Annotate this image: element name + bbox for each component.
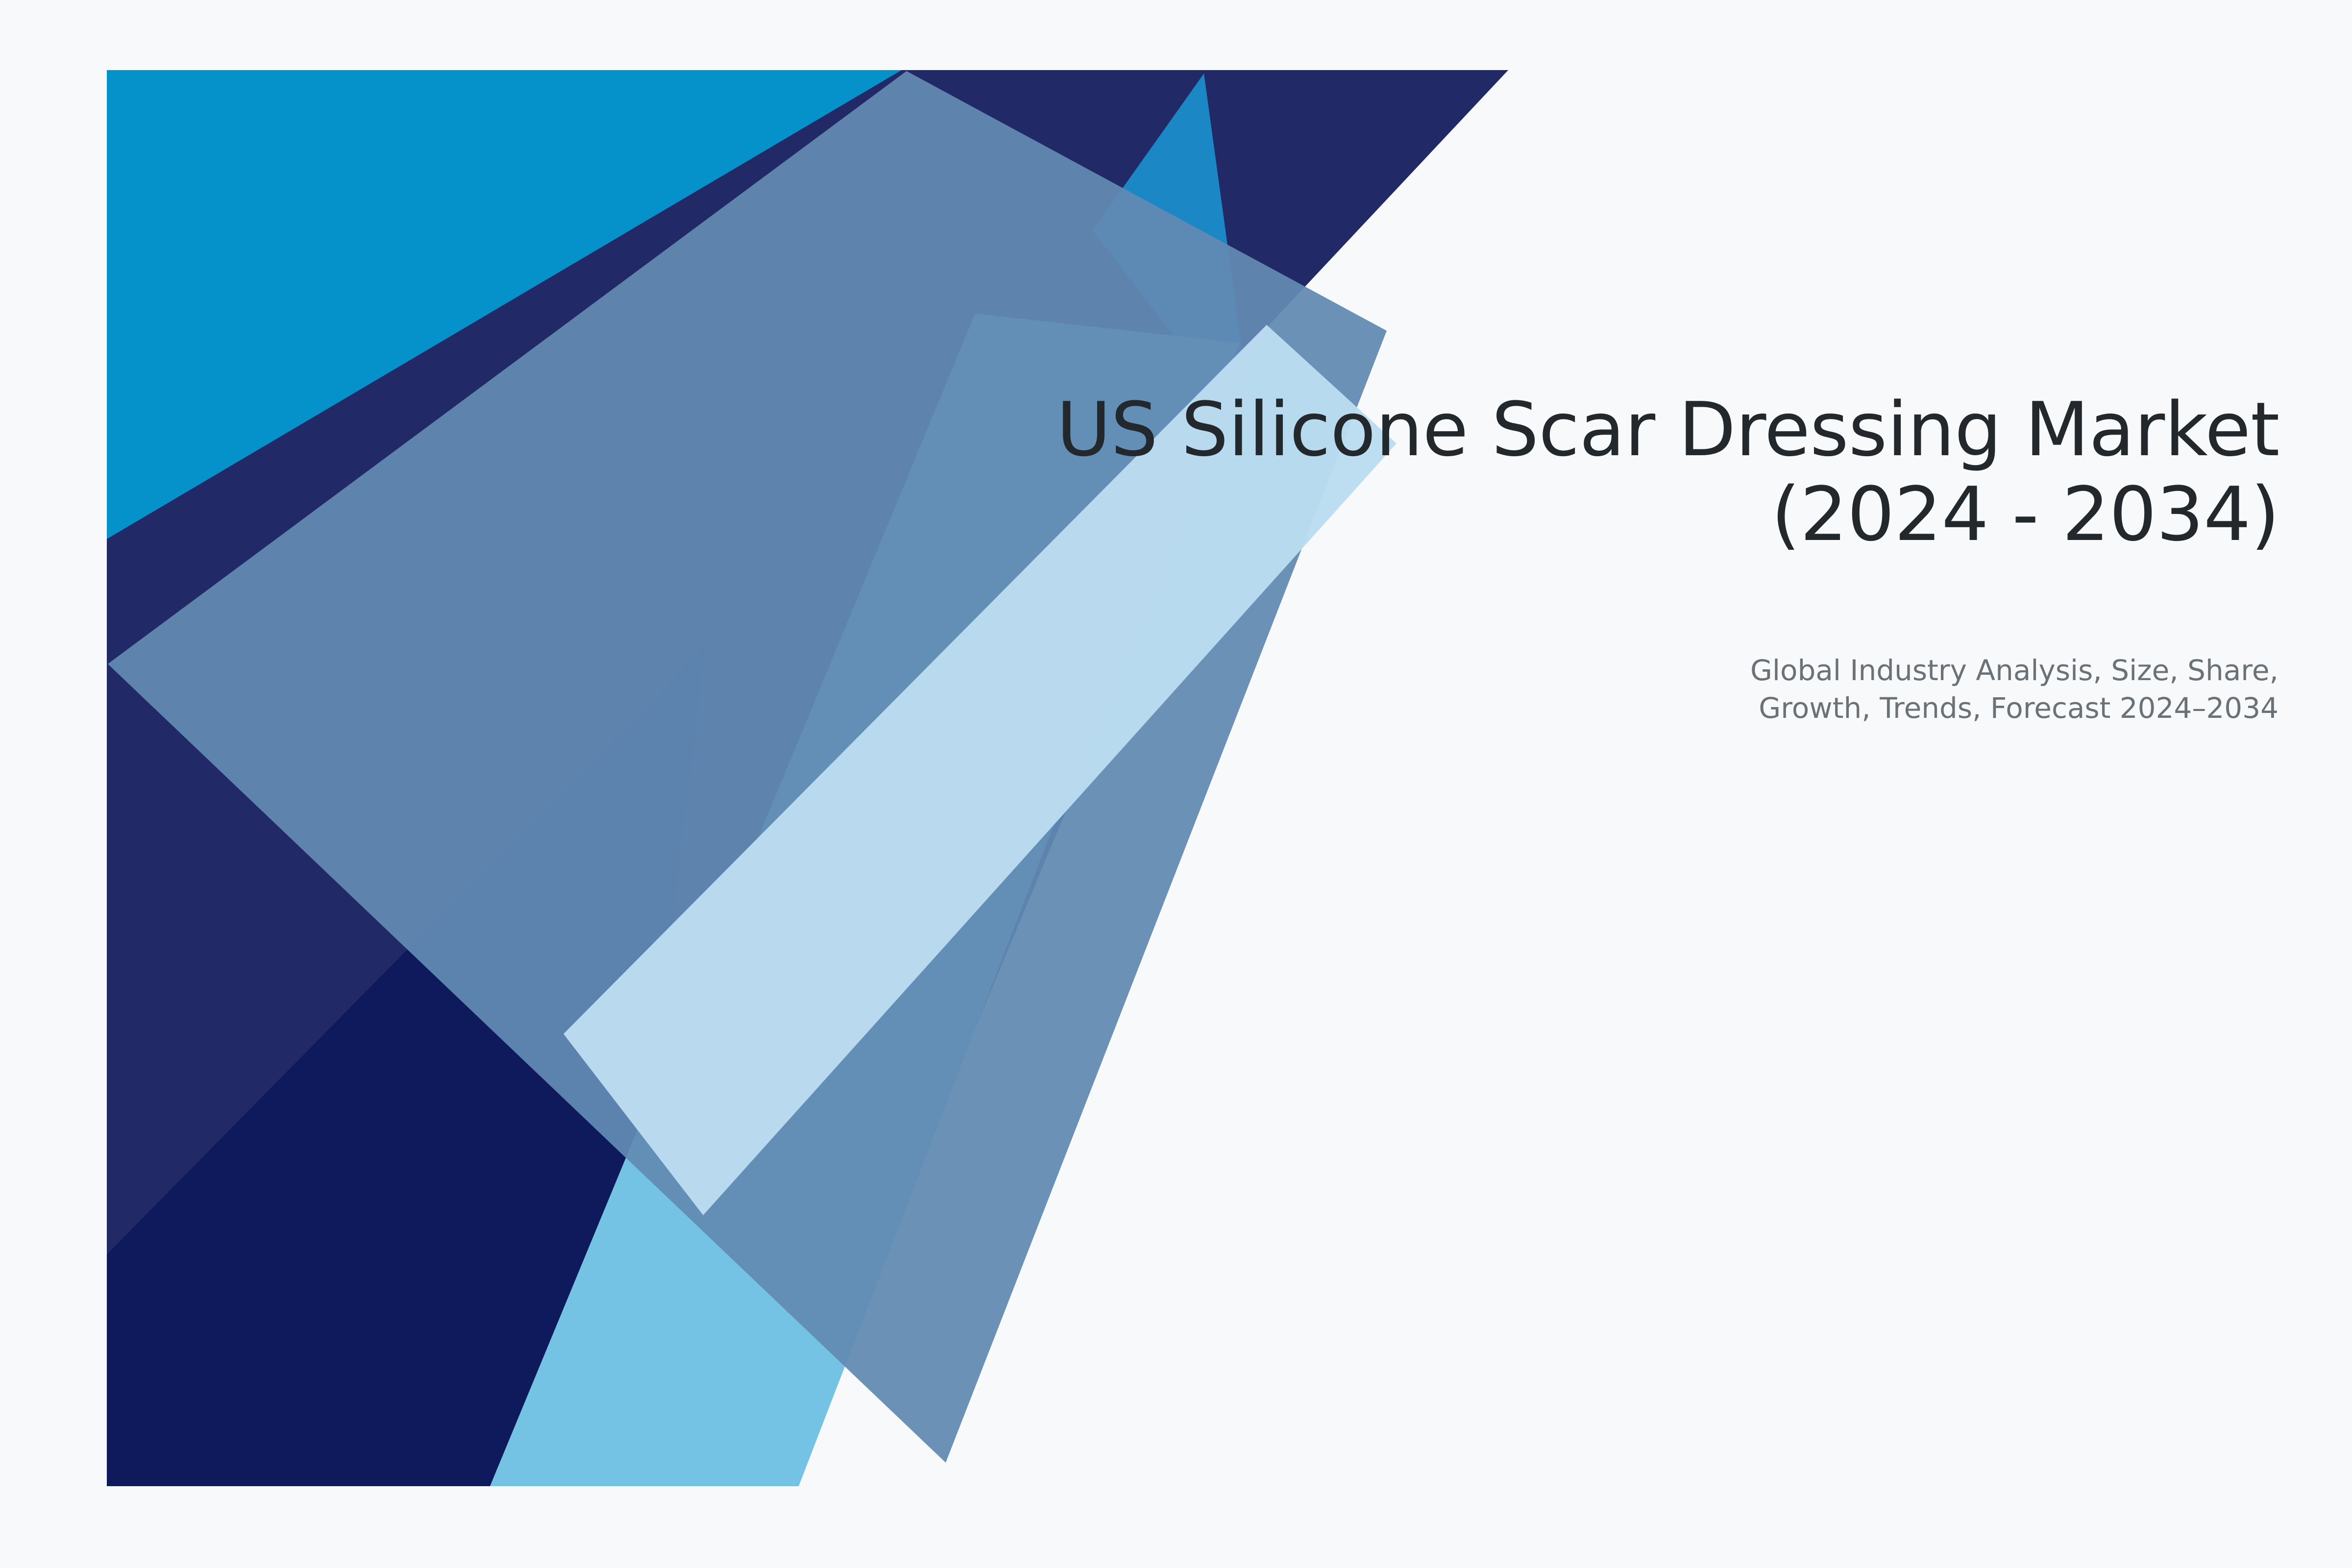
title-line-2-wrapper: (2024 - 2034) <box>1771 472 2279 557</box>
page-subtitle: Global Industry Analysis, Size, Share, G… <box>1514 652 2278 727</box>
page-title: US Silicone Scar Dressing Market (2024 -… <box>927 387 2279 557</box>
title-line-2: (2024 - 2034) <box>1771 471 2279 558</box>
subtitle-line-2: Growth, Trends, Forecast 2024–2034 <box>1514 689 2278 727</box>
cover-artwork <box>0 0 2352 1568</box>
title-line-1: US Silicone Scar Dressing Market <box>927 387 2279 472</box>
report-cover-page: US Silicone Scar Dressing Market (2024 -… <box>0 0 2352 1568</box>
subtitle-line-1: Global Industry Analysis, Size, Share, <box>1514 652 2278 689</box>
